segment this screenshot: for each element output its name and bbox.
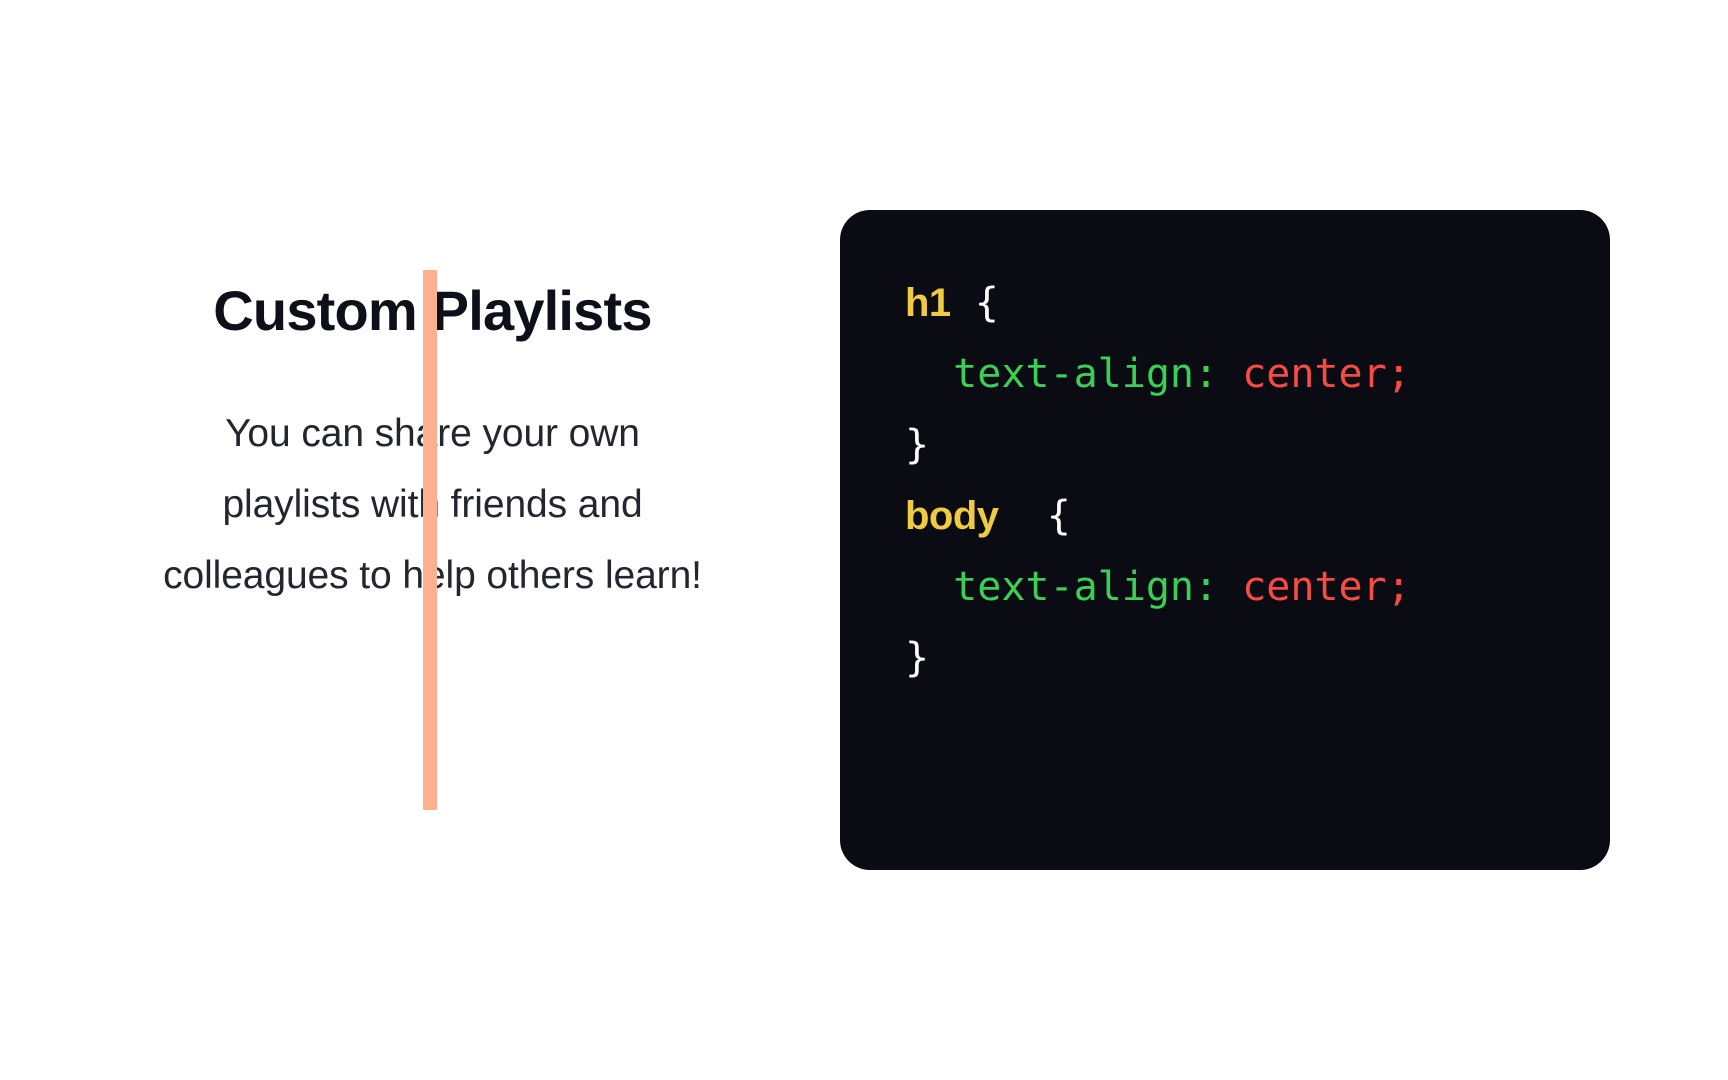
code-space [999, 493, 1047, 539]
code-panel: h1 { text-align: center;}body { text-ali… [840, 210, 1610, 870]
css-selector-h1: h1 [905, 281, 951, 325]
css-open-brace-body: { [1047, 493, 1071, 539]
code-indent [905, 564, 953, 610]
code-line-5: text-align: center; [905, 552, 1610, 623]
css-selector-body: body [905, 494, 999, 538]
code-space [951, 280, 975, 326]
code-line-3: } [905, 410, 1610, 481]
css-open-brace-h1: { [975, 280, 999, 326]
css-value-center-2: center; [1242, 564, 1411, 610]
code-indent [905, 351, 953, 397]
slide-canvas: Custom Playlists You can share your own … [0, 0, 1728, 1080]
css-value-center-1: center; [1242, 351, 1411, 397]
code-block: h1 { text-align: center;}body { text-ali… [905, 268, 1610, 694]
code-line-4: body { [905, 481, 1610, 552]
code-space [1218, 351, 1242, 397]
code-line-2: text-align: center; [905, 339, 1610, 410]
code-space [1218, 564, 1242, 610]
vertical-divider [423, 270, 437, 810]
code-line-6: } [905, 623, 1610, 694]
css-close-brace-h1: } [905, 422, 929, 468]
css-close-brace-body: } [905, 635, 929, 681]
css-property-text-align-2: text-align: [953, 564, 1218, 610]
css-property-text-align-1: text-align: [953, 351, 1218, 397]
code-line-1: h1 { [905, 268, 1610, 339]
